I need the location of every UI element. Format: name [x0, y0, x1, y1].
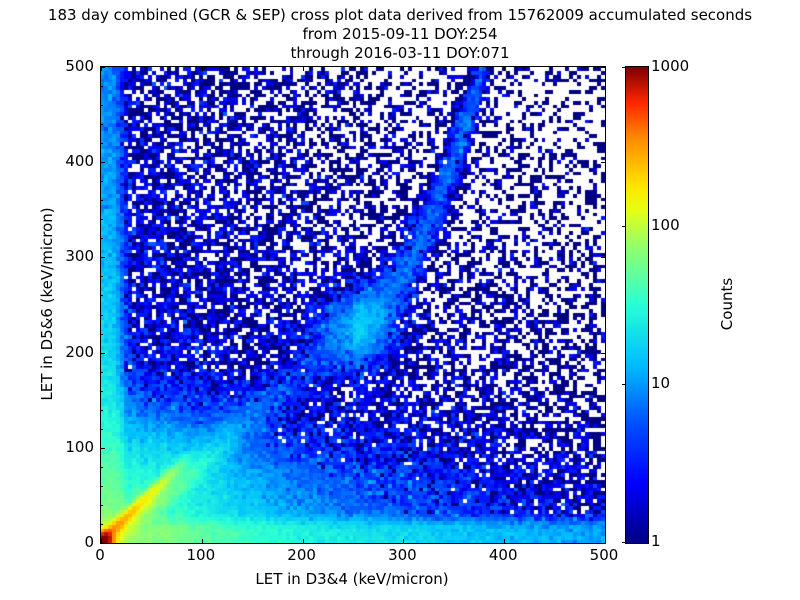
y-minor-tick — [101, 200, 103, 201]
y-minor-tick — [101, 372, 103, 373]
y-minor-tick — [101, 486, 103, 487]
x-tick-top-100 — [202, 67, 203, 71]
y-minor-tick — [101, 143, 103, 144]
y-minor-tick — [101, 467, 103, 468]
x-ticklabel-100: 100 — [186, 546, 215, 564]
figure-canvas: 183 day combined (GCR & SEP) cross plot … — [0, 0, 800, 600]
x-tick-top-300 — [403, 67, 404, 71]
title-line-2: from 2015-09-11 DOY:254 — [0, 25, 800, 44]
x-tick-top-200 — [303, 67, 304, 71]
x-ticklabel-0: 0 — [95, 546, 105, 564]
colorbar-ticklabel-100: 100 — [651, 216, 680, 234]
y-minor-tick — [101, 124, 103, 125]
y-tick-right-100 — [601, 448, 605, 449]
y-minor-tick — [101, 238, 103, 239]
colorbar-tick-1000 — [622, 67, 626, 68]
x-ticklabel-200: 200 — [287, 546, 316, 564]
x-tick-200 — [303, 539, 304, 543]
y-tick-100 — [101, 448, 105, 449]
y-ticklabel-0: 0 — [0, 533, 94, 551]
x-ticklabel-300: 300 — [388, 546, 417, 564]
y-ticklabel-500: 500 — [0, 57, 94, 75]
colorbar-gradient — [626, 67, 648, 543]
y-minor-tick — [101, 505, 103, 506]
y-tick-right-300 — [601, 257, 605, 258]
x-ticklabel-400: 400 — [489, 546, 518, 564]
x-tick-top-400 — [504, 67, 505, 71]
colorbar-tick-1 — [622, 542, 626, 543]
y-tick-right-400 — [601, 162, 605, 163]
y-minor-tick — [101, 276, 103, 277]
x-tick-100 — [202, 539, 203, 543]
y-tick-0 — [101, 543, 105, 544]
y-minor-tick — [101, 86, 103, 87]
title-line-1: 183 day combined (GCR & SEP) cross plot … — [0, 6, 800, 25]
colorbar-tick-10 — [622, 384, 626, 385]
y-tick-right-500 — [601, 67, 605, 68]
y-tick-300 — [101, 257, 105, 258]
y-minor-tick — [101, 334, 103, 335]
density-heatmap — [101, 67, 605, 543]
y-minor-tick — [101, 181, 103, 182]
y-tick-400 — [101, 162, 105, 163]
plot-area — [100, 66, 606, 544]
colorbar-ticklabel-1: 1 — [651, 532, 661, 550]
y-tick-200 — [101, 353, 105, 354]
y-tick-right-0 — [601, 543, 605, 544]
x-tick-500 — [605, 539, 606, 543]
y-minor-tick — [101, 105, 103, 106]
y-minor-tick — [101, 219, 103, 220]
y-minor-tick — [101, 410, 103, 411]
y-minor-tick — [101, 295, 103, 296]
x-tick-top-500 — [605, 67, 606, 71]
plot-title: 183 day combined (GCR & SEP) cross plot … — [0, 6, 800, 63]
y-minor-tick — [101, 315, 103, 316]
y-minor-tick — [101, 391, 103, 392]
x-tick-300 — [403, 539, 404, 543]
y-axis-label: LET in D5&6 (keV/micron) — [38, 154, 56, 454]
colorbar-ticklabel-10: 10 — [651, 374, 670, 392]
x-axis-label: LET in D3&4 (keV/micron) — [100, 570, 604, 588]
y-minor-tick — [101, 524, 103, 525]
colorbar — [625, 66, 649, 544]
x-ticklabel-500: 500 — [590, 546, 619, 564]
y-tick-500 — [101, 67, 105, 68]
colorbar-label: Counts — [718, 204, 736, 404]
y-tick-right-200 — [601, 353, 605, 354]
colorbar-ticklabel-1000: 1000 — [651, 57, 689, 75]
y-minor-tick — [101, 429, 103, 430]
x-tick-400 — [504, 539, 505, 543]
colorbar-tick-100 — [622, 226, 626, 227]
